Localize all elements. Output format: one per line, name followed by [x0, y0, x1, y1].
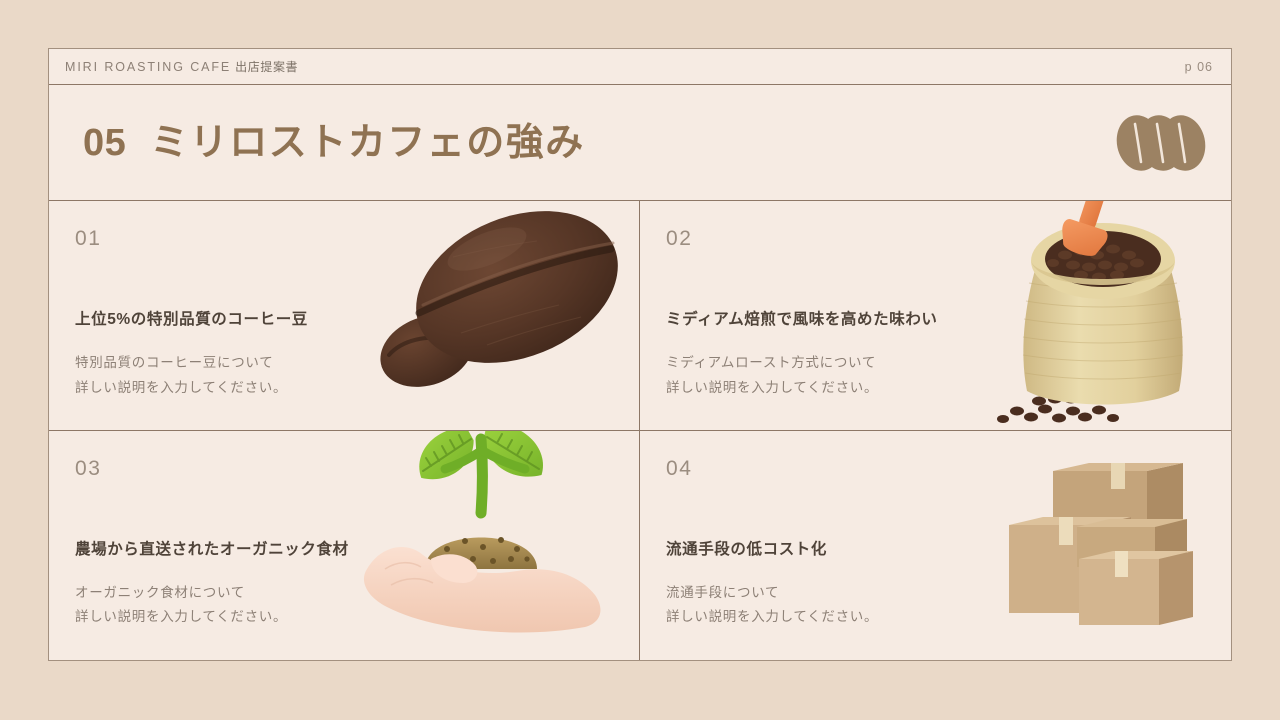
feature-number: 02: [666, 227, 1231, 251]
feature-body: オーガニック食材について 詳しい説明を入力してください。: [75, 581, 287, 631]
feature-body: ミディアムロースト方式について 詳しい説明を入力してください。: [666, 351, 878, 401]
feature-card-01[interactable]: 01 上位5%の特別品質のコーヒー豆 特別品質のコーヒー豆について 詳しい説明を…: [49, 201, 640, 431]
page-title: ミリロストカフェの強み: [150, 124, 585, 162]
feature-body: 流通手段について 詳しい説明を入力してください。: [666, 581, 878, 631]
features-grid: 01 上位5%の特別品質のコーヒー豆 特別品質のコーヒー豆について 詳しい説明を…: [49, 201, 1231, 660]
feature-body: 特別品質のコーヒー豆について 詳しい説明を入力してください。: [75, 351, 287, 401]
slide-panel: MIRI ROASTING CAFE 出店提案書 p 06 05 ミリロストカフ…: [48, 48, 1232, 661]
feature-card-03[interactable]: 03 農場から直送されたオーガニック食材 オーガニック食材について 詳しい説明を…: [49, 431, 640, 661]
feature-number: 03: [75, 457, 639, 481]
brand-name: MIRI ROASTING CAFE: [65, 60, 231, 74]
feature-heading: 流通手段の低コスト化: [666, 537, 827, 559]
title-band: 05 ミリロストカフェの強み: [49, 85, 1231, 201]
stacked-cardboard-boxes-illustration: [997, 461, 1217, 641]
slide-canvas: MIRI ROASTING CAFE 出店提案書 p 06 05 ミリロストカフ…: [0, 0, 1280, 720]
feature-number: 04: [666, 457, 1231, 481]
feature-card-04[interactable]: 04 流通手段の低コスト化 流通手段について 詳しい説明を入力してください。: [640, 431, 1231, 661]
feature-heading: 農場から直送されたオーガニック食材: [75, 537, 349, 559]
feature-number: 01: [75, 227, 639, 251]
document-subtitle: 出店提案書: [235, 58, 298, 75]
coffee-beans-icon: [1113, 112, 1209, 174]
section-number: 05: [83, 124, 126, 162]
page-number: p 06: [1185, 60, 1213, 74]
slide-header: MIRI ROASTING CAFE 出店提案書 p 06: [49, 49, 1231, 85]
feature-heading: 上位5%の特別品質のコーヒー豆: [75, 307, 308, 329]
feature-heading: ミディアム焙煎で風味を高めた味わい: [666, 307, 938, 329]
feature-card-02[interactable]: 02 ミディアム焙煎で風味を高めた味わい ミディアムロースト方式について 詳しい…: [640, 201, 1231, 431]
